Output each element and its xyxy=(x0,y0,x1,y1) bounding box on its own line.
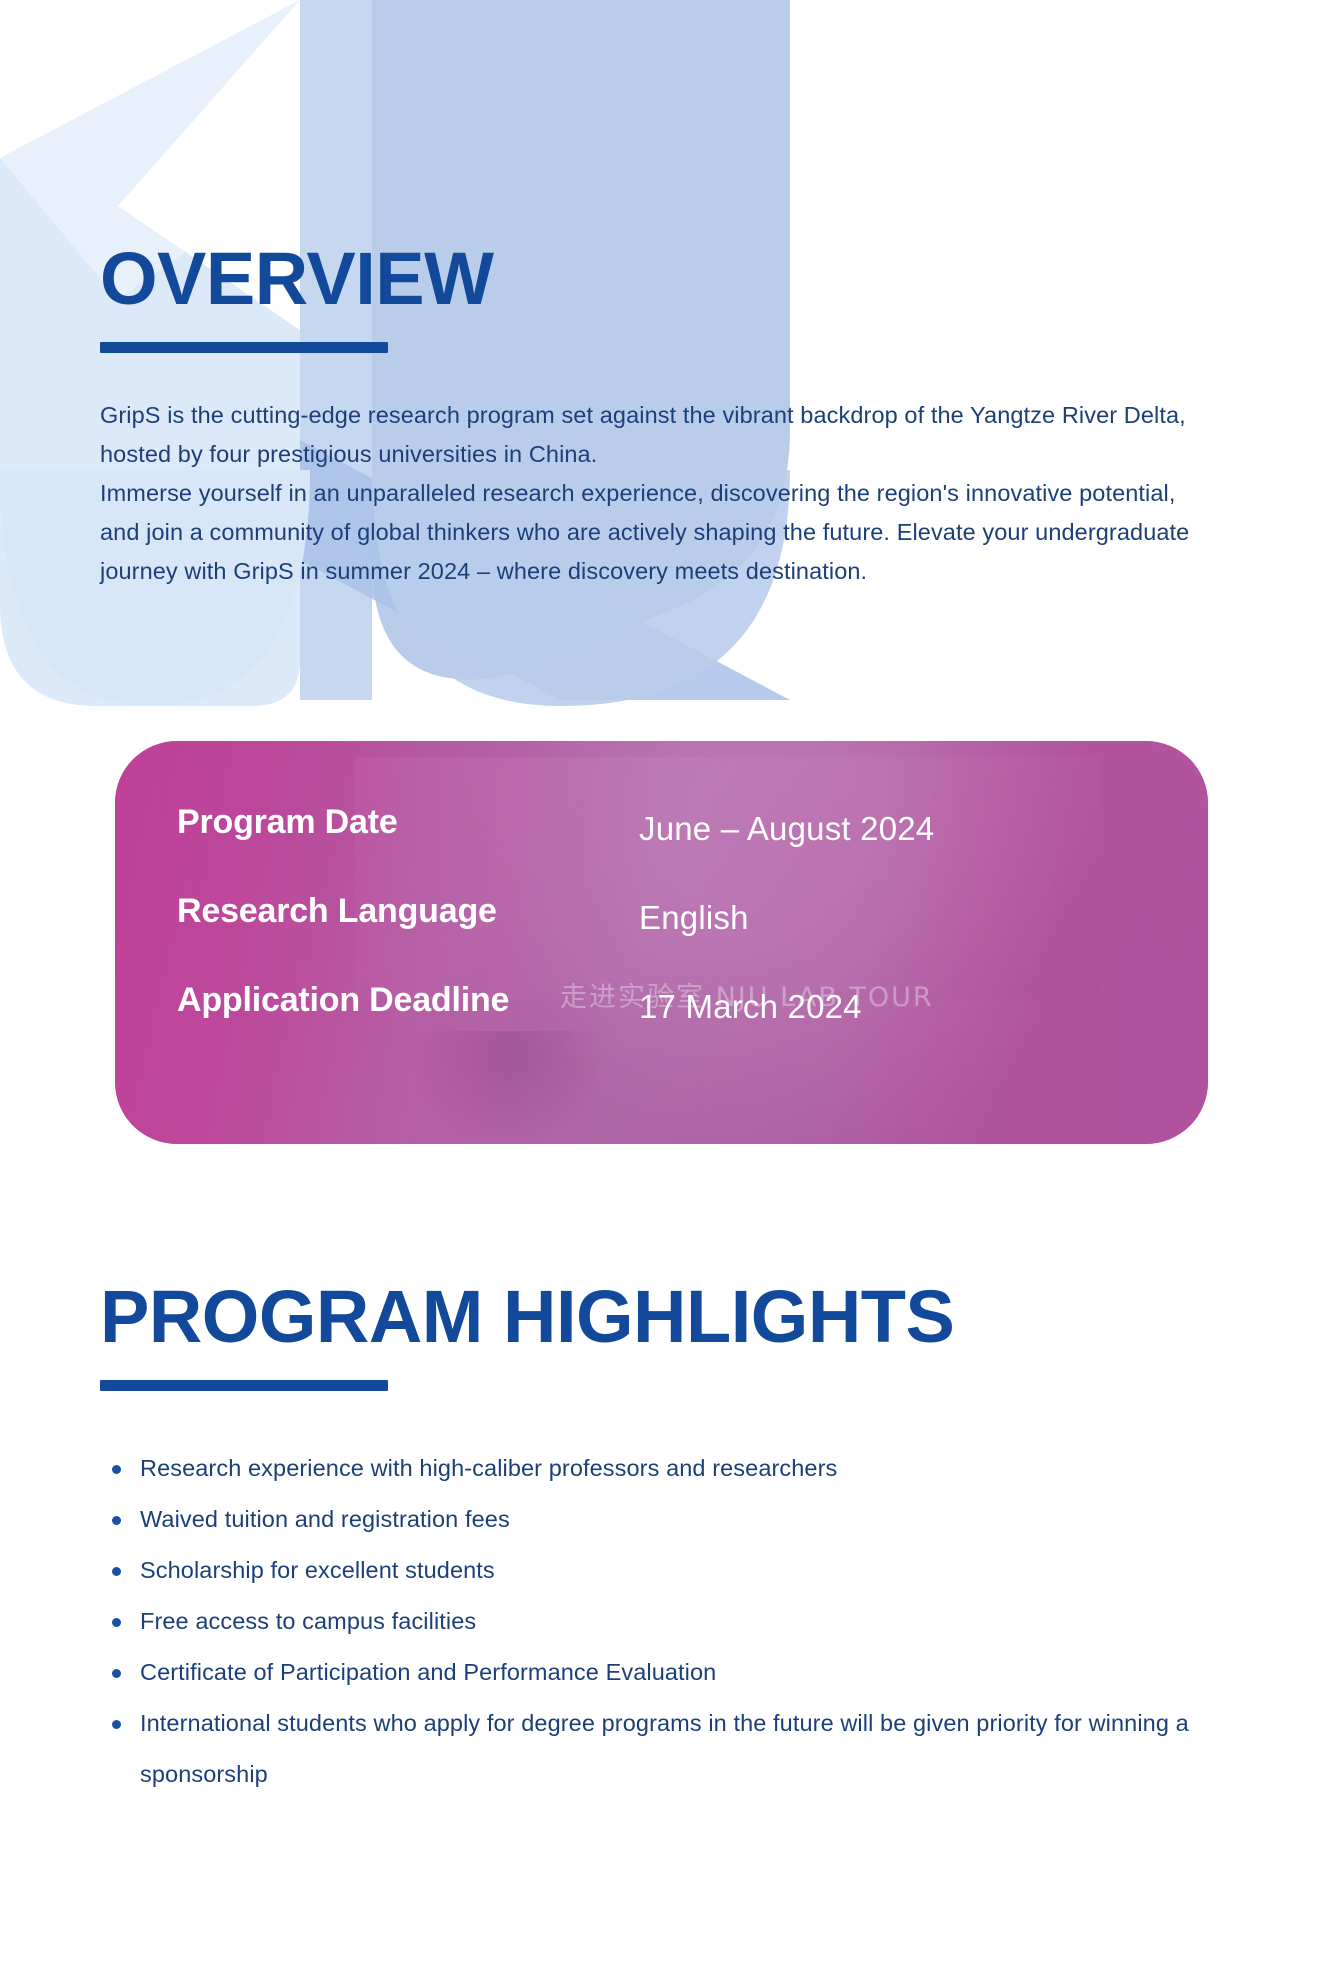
program-highlights-list: Research experience with high-caliber pr… xyxy=(100,1443,1260,1800)
overview-body-copy: GripS is the cutting-edge research progr… xyxy=(100,396,1210,591)
photo-caption-text: 走进实验室 NJU LAB TOUR xyxy=(560,975,934,1014)
brochure-page: OVERVIEW GripS is the cutting-edge resea… xyxy=(0,0,1338,1969)
list-item-label: Research experience with high-caliber pr… xyxy=(140,1455,837,1481)
bullet-dot-icon xyxy=(112,1516,121,1525)
highlights-title-rule xyxy=(100,1380,388,1391)
overview-title-rule xyxy=(100,342,388,353)
list-item-label: Waived tuition and registration fees xyxy=(140,1506,510,1532)
list-item: Free access to campus facilities xyxy=(100,1596,1260,1647)
info-row-research-language: Research Language English xyxy=(177,892,1148,931)
overview-paragraph-2: Immerse yourself in an unparalleled rese… xyxy=(100,474,1210,591)
highlights-section-header: PROGRAM HIGHLIGHTS xyxy=(100,1280,1300,1391)
list-item: Certificate of Participation and Perform… xyxy=(100,1647,1260,1698)
list-item-label: International students who apply for deg… xyxy=(140,1698,1260,1800)
overview-paragraph-1: GripS is the cutting-edge research progr… xyxy=(100,396,1210,474)
page-title-program-highlights: PROGRAM HIGHLIGHTS xyxy=(100,1280,1300,1354)
bullet-dot-icon xyxy=(112,1720,121,1729)
bullet-dot-icon xyxy=(112,1618,121,1627)
info-value-research-language: English xyxy=(639,899,749,937)
list-item: Scholarship for excellent students xyxy=(100,1545,1260,1596)
list-item-label: Scholarship for excellent students xyxy=(140,1557,495,1583)
list-item-label: Free access to campus facilities xyxy=(140,1608,476,1634)
bullet-dot-icon xyxy=(112,1567,121,1576)
info-value-program-date: June – August 2024 xyxy=(639,810,934,848)
info-row-program-date: Program Date June – August 2024 xyxy=(177,803,1148,842)
program-info-card: Program Date June – August 2024 Research… xyxy=(115,741,1208,1144)
program-info-rows: Program Date June – August 2024 Research… xyxy=(115,741,1208,1144)
bullet-dot-icon xyxy=(112,1669,121,1678)
list-item: Waived tuition and registration fees xyxy=(100,1494,1260,1545)
page-title-overview: OVERVIEW xyxy=(100,242,1200,316)
list-item-label: Certificate of Participation and Perform… xyxy=(140,1659,716,1685)
bullet-dot-icon xyxy=(112,1465,121,1474)
list-item: International students who apply for deg… xyxy=(100,1698,1260,1800)
info-label-research-language: Research Language xyxy=(177,892,639,931)
overview-section-header: OVERVIEW xyxy=(100,242,1200,353)
list-item: Research experience with high-caliber pr… xyxy=(100,1443,1260,1494)
info-label-program-date: Program Date xyxy=(177,803,639,842)
